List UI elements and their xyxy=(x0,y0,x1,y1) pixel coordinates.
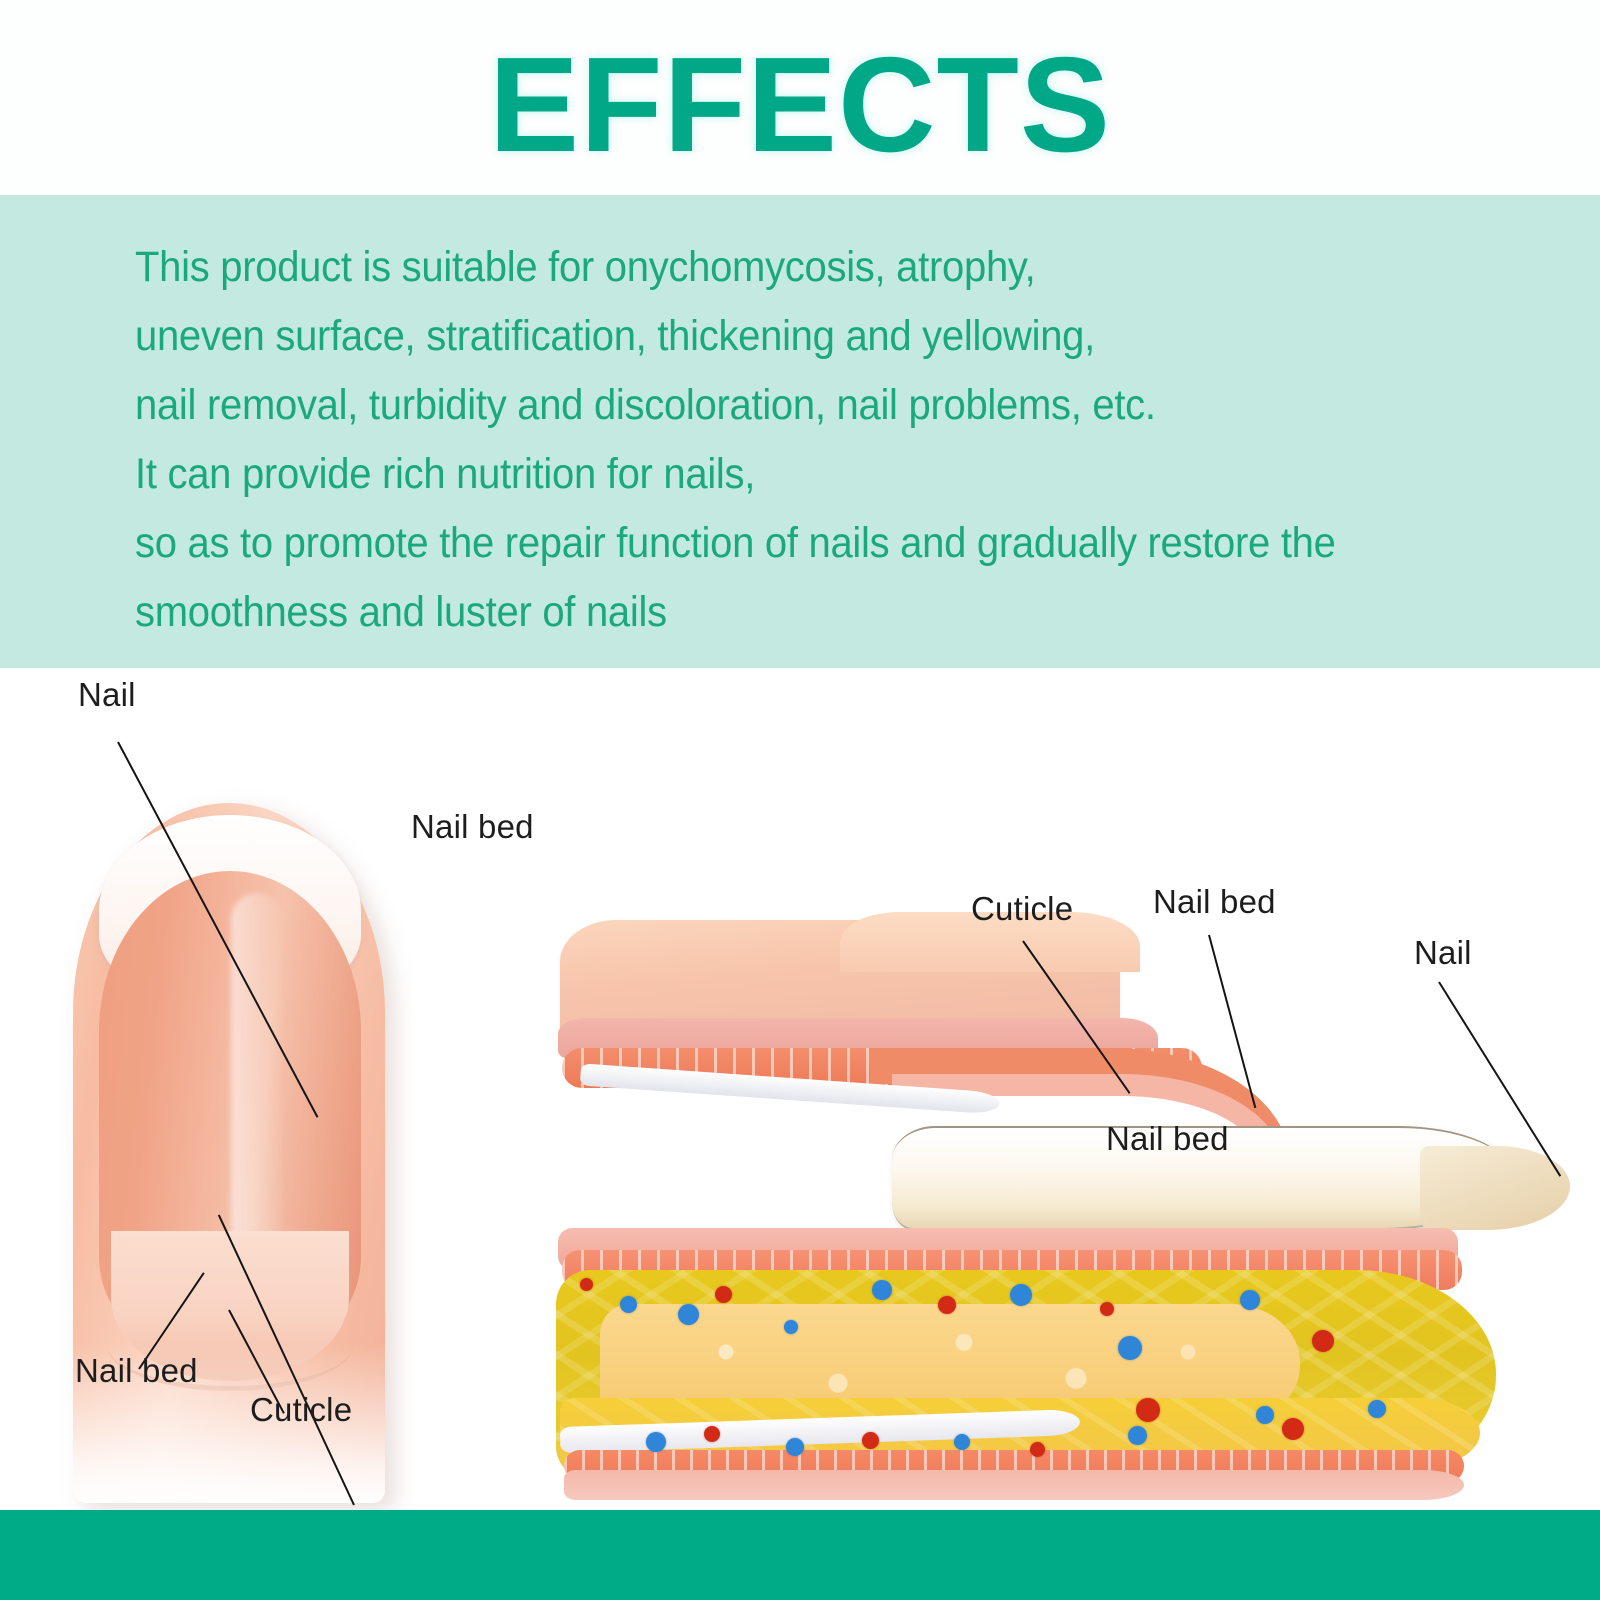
page-title: EFFECTS xyxy=(0,34,1600,176)
blood-vessel-vein xyxy=(678,1304,699,1325)
blood-vessel-vein xyxy=(954,1434,970,1450)
diagram-area: Nail Nail bed Nail bed Cuticle xyxy=(0,668,1600,1510)
label-xsec-nail: Nail xyxy=(1414,934,1472,972)
blood-vessel-artery xyxy=(580,1278,593,1291)
blood-vessel-artery xyxy=(715,1286,732,1303)
title-band: EFFECTS xyxy=(0,0,1600,195)
blood-vessel-vein xyxy=(646,1432,666,1452)
blood-vessel-artery xyxy=(1136,1398,1160,1422)
description-line-4: It can provide rich nutrition for nails, xyxy=(135,440,1497,509)
blood-vessel-artery xyxy=(1030,1442,1045,1457)
blood-vessel-vein xyxy=(1240,1290,1260,1310)
label-xsec-cuticle: Cuticle xyxy=(971,890,1073,928)
label-front-nail-bed: Nail bed xyxy=(411,808,534,846)
nail-cross-section-illustration xyxy=(540,898,1540,1508)
blood-vessel-artery xyxy=(1282,1418,1304,1440)
label-front-cuticle: Cuticle xyxy=(250,1391,352,1429)
blood-vessel-vein xyxy=(872,1280,892,1300)
label-xsec-nail-bed-inner: Nail bed xyxy=(1106,1120,1229,1158)
blood-vessel-vein xyxy=(1128,1426,1147,1445)
description-line-2: uneven surface, stratification, thickeni… xyxy=(135,302,1497,371)
blood-vessel-artery xyxy=(704,1426,720,1442)
blood-vessel-vein xyxy=(1368,1400,1386,1418)
blood-vessel-artery xyxy=(938,1296,956,1314)
blood-vessel-vein xyxy=(620,1296,637,1313)
blood-vessel-vein xyxy=(1256,1406,1274,1424)
blood-vessel-artery xyxy=(1312,1330,1334,1352)
skin-layer-lowest xyxy=(564,1470,1464,1500)
label-front-nail-bed-bottom: Nail bed xyxy=(75,1352,198,1390)
blood-vessel-artery xyxy=(862,1432,879,1449)
blood-vessel-vein xyxy=(1010,1284,1032,1306)
description-line-1: This product is suitable for onychomycos… xyxy=(135,233,1497,302)
description-line-6: smoothness and luster of nails xyxy=(135,578,1497,647)
label-xsec-nail-bed-top: Nail bed xyxy=(1153,883,1276,921)
label-front-nail: Nail xyxy=(78,676,136,714)
bottom-accent-bar xyxy=(0,1510,1600,1600)
blood-vessel-vein xyxy=(784,1320,798,1334)
blood-vessel-vein xyxy=(1118,1336,1142,1360)
description-band: This product is suitable for onychomycos… xyxy=(0,195,1600,668)
nail-front-view-illustration xyxy=(55,743,415,1513)
description-line-5: so as to promote the repair function of … xyxy=(135,509,1497,578)
blood-vessel-artery xyxy=(1100,1302,1114,1316)
description-line-3: nail removal, turbidity and discoloratio… xyxy=(135,371,1497,440)
blood-vessel-vein xyxy=(786,1438,804,1456)
